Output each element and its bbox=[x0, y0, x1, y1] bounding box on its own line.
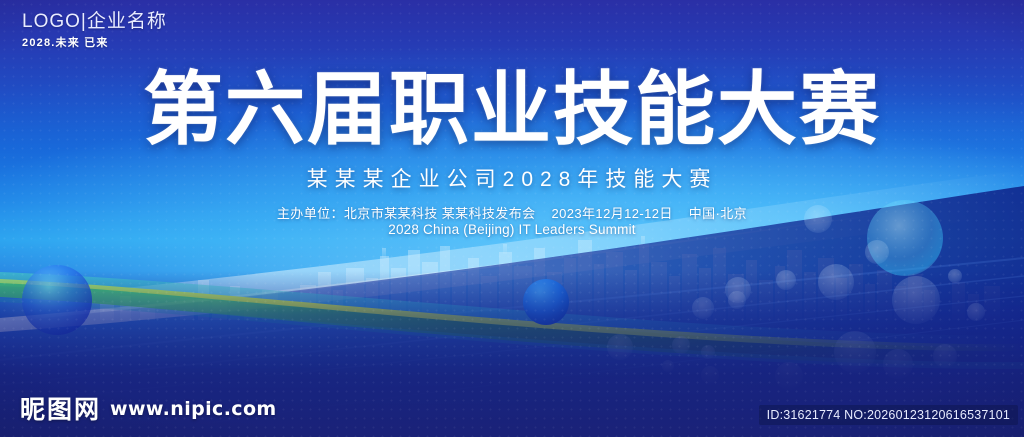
translucent-blue-sphere bbox=[22, 265, 92, 335]
asset-id-badge: ID:31621774 NO:20260123120616537101 bbox=[759, 405, 1018, 425]
poster-canvas: LOGO|企业名称 2028.未来 已来 第六届职业技能大赛 某某某企业公司20… bbox=[0, 0, 1024, 437]
english-title: 2028 China (Beijing) IT Leaders Summit bbox=[0, 222, 1024, 237]
logo-block[interactable]: LOGO|企业名称 2028.未来 已来 bbox=[22, 11, 167, 50]
watermark-site-url: www.nipic.com bbox=[110, 398, 277, 423]
logo-tagline: 2028.未来 已来 bbox=[22, 37, 167, 50]
event-location: 中国·北京 bbox=[689, 206, 747, 221]
solid-blue-sphere bbox=[523, 279, 569, 325]
watermark: 昵图网 www.nipic.com bbox=[20, 396, 277, 423]
main-title: 第六届职业技能大赛 bbox=[0, 67, 1024, 153]
logo-name: LOGO|企业名称 bbox=[22, 11, 167, 33]
organizer-text: 主办单位：北京市某某科技 某某科技发布会 bbox=[277, 206, 536, 221]
details-line: 主办单位：北京市某某科技 某某科技发布会2023年12月12-12日中国·北京 bbox=[0, 203, 1024, 222]
event-date: 2023年12月12-12日 bbox=[552, 206, 673, 221]
watermark-site-name: 昵图网 bbox=[20, 396, 101, 423]
sub-title: 某某某企业公司2028年技能大赛 bbox=[0, 163, 1024, 193]
